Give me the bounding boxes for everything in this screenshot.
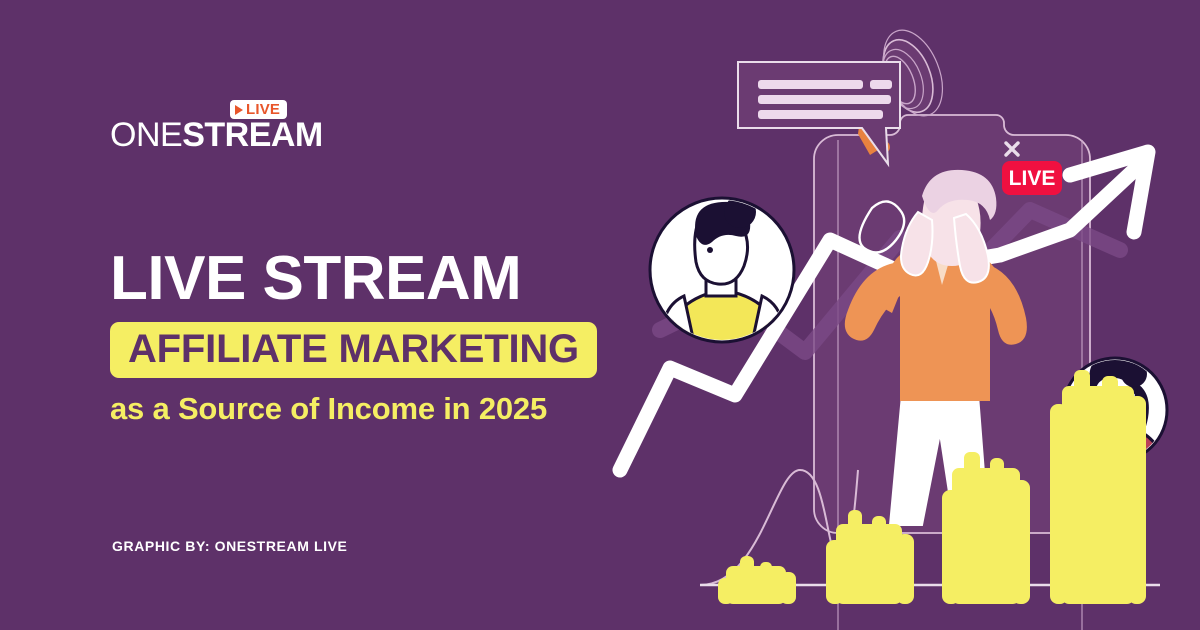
coin-stack: [718, 556, 796, 604]
logo-live-badge-label: LIVE: [246, 102, 280, 117]
headline-line-2: AFFILIATE MARKETING: [128, 329, 579, 369]
onestream-live-logo[interactable]: LIVE ONESTREAM: [110, 100, 310, 152]
bubble-text-line: [758, 110, 883, 119]
headline-line-3: as a Source of Income in 2025: [110, 392, 630, 426]
bubble-text-line: [758, 80, 863, 89]
headline-line-1: LIVE STREAM: [110, 248, 630, 310]
graphic-credit: GRAPHIC BY: ONESTREAM LIVE: [112, 538, 347, 554]
logo-word-one: ONE: [110, 116, 182, 154]
left-content-column: LIVE ONESTREAM LIVE STREAM AFFILIATE MAR…: [0, 0, 640, 630]
coin-stack: [1050, 370, 1146, 604]
illustration-area: LIVE: [600, 0, 1200, 630]
headline-block: LIVE STREAM AFFILIATE MARKETING as a Sou…: [110, 248, 630, 426]
poster-canvas: LIVE ONESTREAM LIVE STREAM AFFILIATE MAR…: [0, 0, 1200, 630]
stream-live-badge: LIVE: [1002, 161, 1062, 195]
logo-wordmark: ONESTREAM: [110, 118, 323, 152]
headline-highlight-band: AFFILIATE MARKETING: [110, 322, 597, 378]
coin-stack: [942, 452, 1030, 604]
bubble-text-line: [758, 95, 891, 104]
stream-live-badge-label: LIVE: [1009, 167, 1056, 190]
play-triangle-icon: [235, 105, 243, 115]
logo-word-stream: STREAM: [182, 116, 323, 154]
bubble-text-line: [870, 80, 892, 89]
